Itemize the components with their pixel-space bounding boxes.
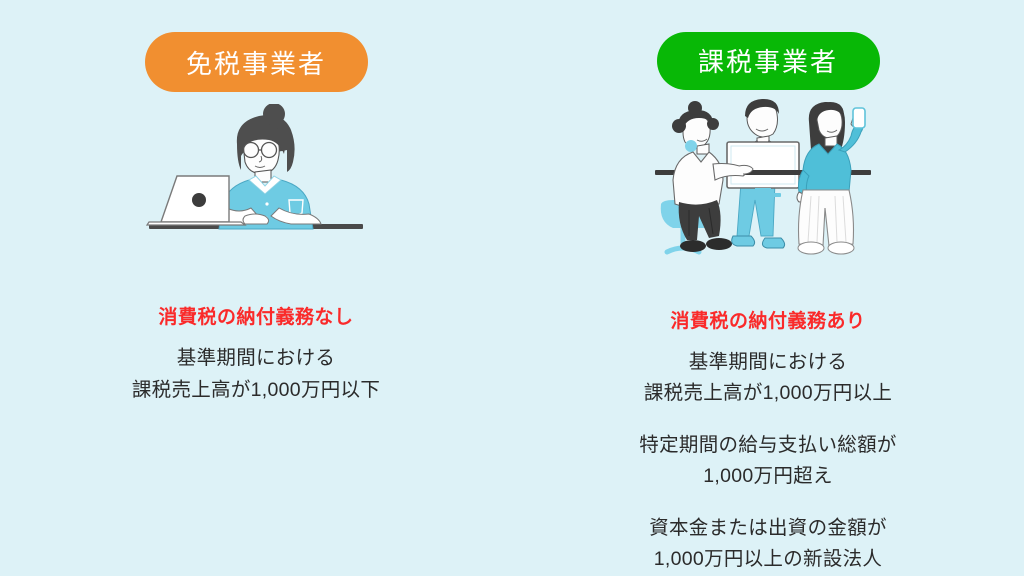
woman-at-laptop-icon xyxy=(141,104,371,274)
condition-line: 資本金または出資の金額が xyxy=(649,513,887,545)
badge-taxable-business: 課税事業者 xyxy=(657,32,880,90)
condition-block: 資本金または出資の金額が 1,000万円以上の新設法人 xyxy=(649,513,887,576)
illustration-three-coworkers xyxy=(512,96,1024,266)
condition-line: 特定期間の給与支払い総額が xyxy=(639,430,896,462)
condition-line: 課税売上高が1,000万円以上 xyxy=(644,378,892,410)
condition-block: 基準期間における 課税売上高が1,000万円以上 xyxy=(644,347,892,410)
headline-no-tax-obligation: 消費税の納付義務なし xyxy=(158,302,353,329)
condition-block: 基準期間における 課税売上高が1,000万円以下 xyxy=(132,343,380,406)
condition-line: 課税売上高が1,000万円以下 xyxy=(132,375,380,407)
comparison-diagram: 免税事業者 xyxy=(0,0,1024,576)
column-exempt-business: 免税事業者 xyxy=(0,0,512,576)
three-coworkers-at-desk-icon xyxy=(653,96,883,266)
condition-line: 基準期間における xyxy=(644,347,892,379)
condition-block: 特定期間の給与支払い総額が 1,000万円超え xyxy=(639,430,896,493)
column-taxable-business: 課税事業者 xyxy=(512,0,1024,576)
illustration-woman-at-laptop xyxy=(0,104,512,274)
condition-line: 1,000万円超え xyxy=(639,461,896,493)
badge-exempt-business: 免税事業者 xyxy=(145,32,368,92)
condition-line: 1,000万円以上の新設法人 xyxy=(649,544,887,576)
headline-tax-obligation-required: 消費税の納付義務あり xyxy=(670,306,865,333)
condition-line: 基準期間における xyxy=(132,343,380,375)
